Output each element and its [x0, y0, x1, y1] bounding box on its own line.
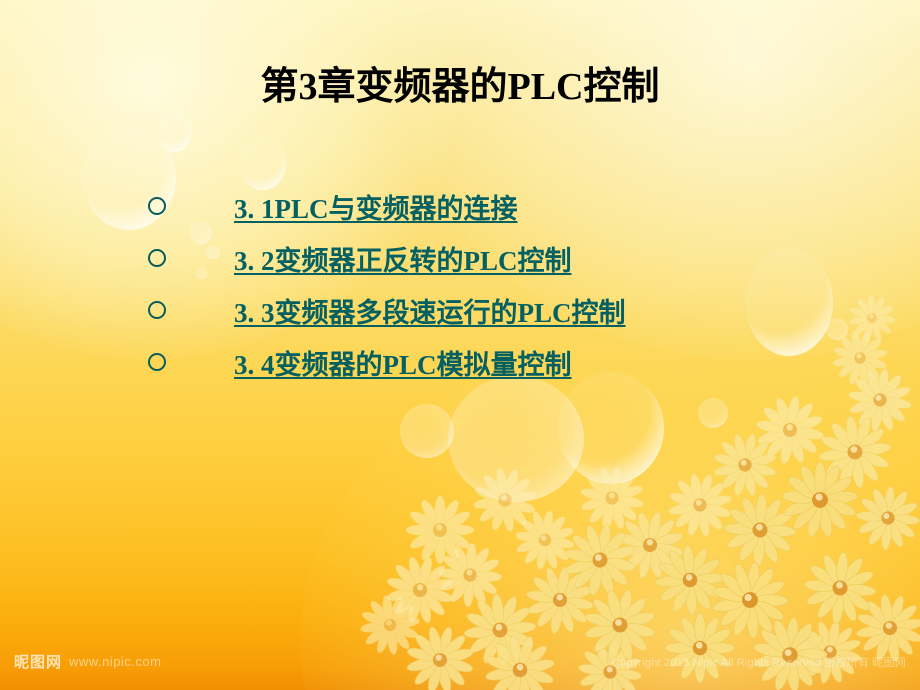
- bubble-decoration-icon: [745, 248, 833, 356]
- watermark-copyright: Copyright 2013 Nipic All Rights Reserved…: [612, 654, 906, 670]
- list-item[interactable]: 3. 2变频器正反转的PLC控制: [148, 232, 626, 284]
- list-item[interactable]: 3. 1PLC与变频器的连接: [148, 180, 626, 232]
- toc-link-section-1[interactable]: 3. 1PLC与变频器的连接: [234, 187, 518, 226]
- bubble-decoration-icon: [400, 404, 454, 458]
- toc-link-section-2[interactable]: 3. 2变频器正反转的PLC控制: [234, 239, 572, 278]
- bubble-decoration-icon: [826, 318, 848, 340]
- hollow-circle-bullet-icon: [148, 249, 166, 267]
- presentation-slide: 第3章变频器的PLC控制 3. 1PLC与变频器的连接 3. 2变频器正反转的P…: [0, 0, 920, 690]
- watermark-logo: 昵图网: [14, 651, 62, 672]
- list-item[interactable]: 3. 3变频器多段速运行的PLC控制: [148, 284, 626, 336]
- hollow-circle-bullet-icon: [148, 301, 166, 319]
- bubble-decoration-icon: [558, 372, 664, 484]
- watermark-url: www.nipic.com: [69, 654, 161, 669]
- toc-link-section-3[interactable]: 3. 3变频器多段速运行的PLC控制: [234, 291, 626, 330]
- hollow-circle-bullet-icon: [148, 353, 166, 371]
- page-title: 第3章变频器的PLC控制: [0, 66, 920, 110]
- bubble-decoration-icon: [448, 376, 584, 502]
- list-item[interactable]: 3. 4变频器的PLC模拟量控制: [148, 336, 626, 388]
- hollow-circle-bullet-icon: [148, 197, 166, 215]
- bubble-decoration-icon: [698, 398, 728, 428]
- watermark-left: 昵图网 www.nipic.com: [14, 651, 161, 672]
- bubble-decoration-icon: [158, 110, 192, 152]
- toc-link-section-4[interactable]: 3. 4变频器的PLC模拟量控制: [234, 343, 572, 382]
- table-of-contents-list: 3. 1PLC与变频器的连接 3. 2变频器正反转的PLC控制 3. 3变频器多…: [148, 180, 626, 388]
